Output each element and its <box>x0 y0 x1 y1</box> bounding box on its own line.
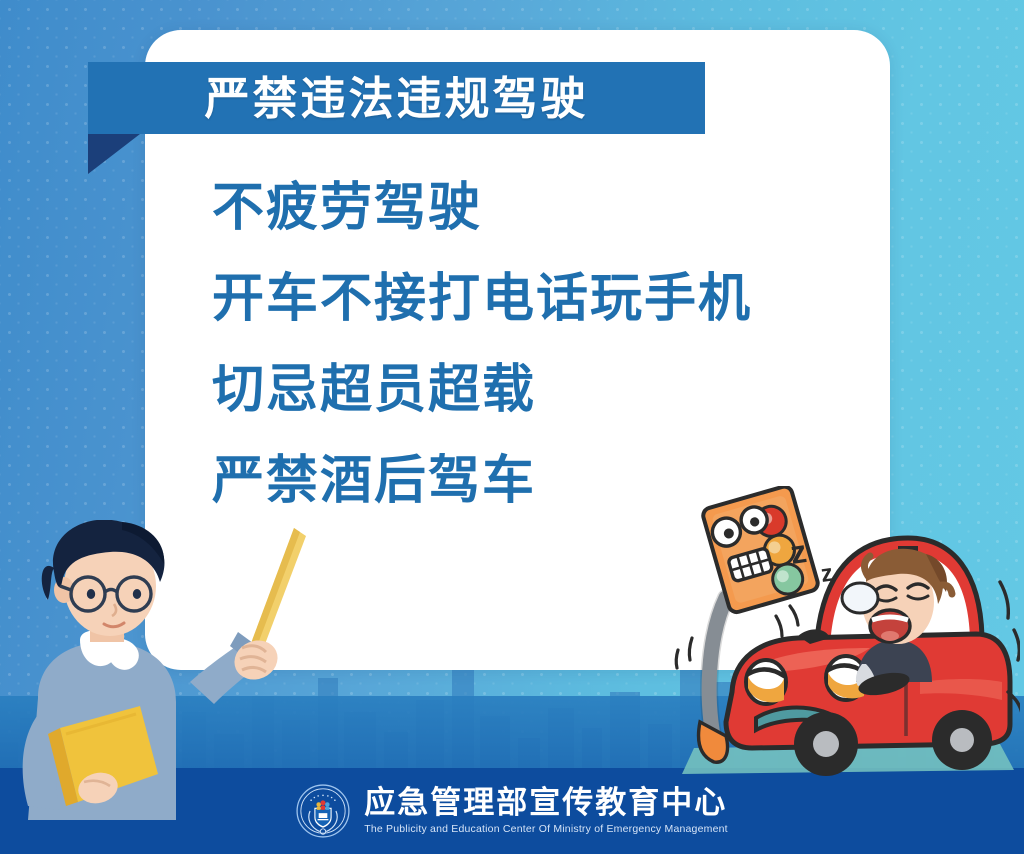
car-illustration: z z z <box>670 486 1020 776</box>
organization-name-en: The Publicity and Education Center Of Mi… <box>364 823 728 837</box>
banner-fold-corner <box>88 134 140 174</box>
footer-branding: 应急管理部宣传教育中心 The Publicity and Education … <box>0 768 1024 854</box>
title-banner: 严禁违法违规驾驶 <box>88 62 705 134</box>
title-banner-body: 严禁违法违规驾驶 <box>88 62 705 134</box>
slogan-line-3: 切忌超员超载 <box>212 364 852 416</box>
organization-name-cn: 应急管理部宣传教育中心 <box>364 786 728 820</box>
footer-text-group: 应急管理部宣传教育中心 The Publicity and Education … <box>364 786 728 837</box>
slogan-line-1: 不疲劳驾驶 <box>212 182 852 234</box>
banner-title-text: 严禁违法违规驾驶 <box>204 76 588 121</box>
slogan-line-2: 开车不接打电话玩手机 <box>212 273 852 325</box>
pointer-stick-shape <box>250 528 306 652</box>
ministry-emblem-icon <box>296 784 350 838</box>
poster-canvas: 严禁违法违规驾驶 不疲劳驾驶 开车不接打电话玩手机 切忌超员超载 严禁酒后驾车 <box>0 0 1024 854</box>
